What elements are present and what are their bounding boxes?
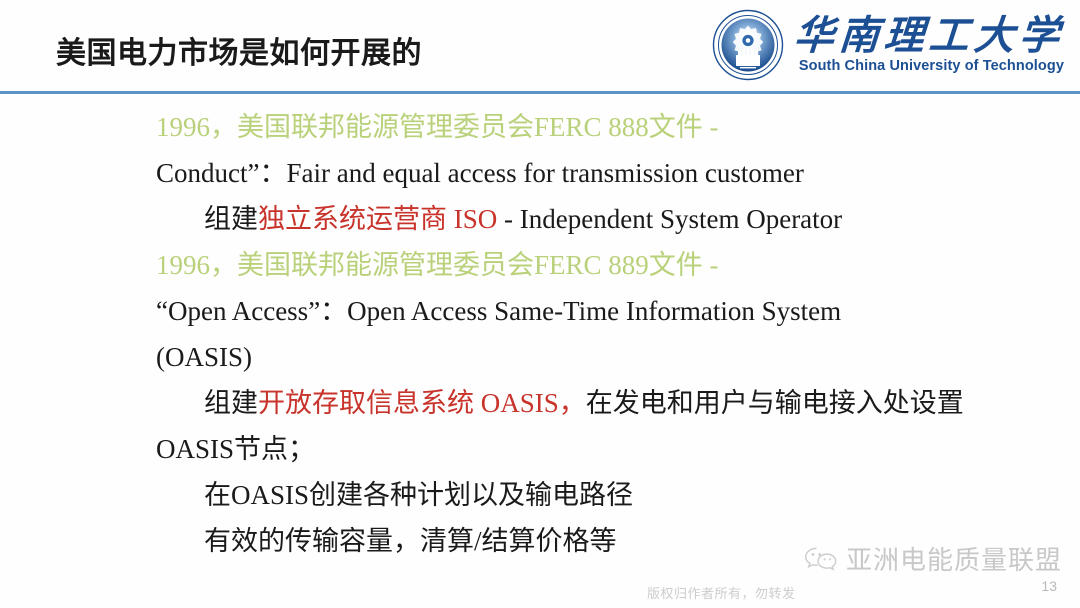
slide-root: 美国电力市场是如何开展的 <box>0 0 1080 608</box>
text-run-red: 开放存取信息系统 OASIS， <box>258 388 586 418</box>
body-line: 组建开放存取信息系统 OASIS，在发电和用户与输电接入处设置 <box>0 380 1080 426</box>
watermark: 亚洲电能质量联盟 <box>803 540 1062 577</box>
text-run-black: Conduct”：Fair and equal access for trans… <box>156 158 804 188</box>
body-line: (OASIS) <box>0 334 1080 380</box>
text-run-black: 组建 <box>204 388 258 418</box>
university-seal-icon <box>712 9 784 81</box>
text-run-black: - Independent System Operator <box>497 204 842 234</box>
text-run-black: OASIS节点； <box>156 434 315 464</box>
header-divider <box>0 91 1080 94</box>
text-run-black: 在发电和用户与输电接入处设置 <box>586 388 964 418</box>
body-line: 组建独立系统运营商 ISO - Independent System Opera… <box>0 196 1080 242</box>
slide-header: 美国电力市场是如何开展的 <box>0 0 1080 92</box>
text-run-black: 组建 <box>204 204 258 234</box>
text-run-green: 1996，美国联邦能源管理委员会FERC 889文件 - <box>156 250 719 280</box>
page-title: 美国电力市场是如何开展的 <box>56 28 422 72</box>
body-line: 1996，美国联邦能源管理委员会FERC 888文件 - <box>0 104 1080 150</box>
text-run-green: 1996，美国联邦能源管理委员会FERC 888文件 - <box>156 112 719 142</box>
text-run-red: 独立系统运营商 ISO <box>258 204 497 234</box>
text-run-black: (OASIS) <box>156 342 252 372</box>
university-logo: 华南理工大学 South China University of Technol… <box>712 6 1064 84</box>
watermark-label: 亚洲电能质量联盟 <box>846 540 1062 577</box>
university-name-cn: 华南理工大学 <box>793 16 1066 57</box>
body-line: 1996，美国联邦能源管理委员会FERC 889文件 - <box>0 242 1080 288</box>
university-name-en: South China University of Technology <box>799 58 1064 74</box>
slide-body: 1996，美国联邦能源管理委员会FERC 888文件 -Conduct”：Fai… <box>0 104 1080 564</box>
copyright-notice: 版权归作者所有，勿转发 <box>647 583 796 602</box>
body-line: OASIS节点； <box>0 426 1080 472</box>
body-line: 在OASIS创建各种计划以及输电路径 <box>0 472 1080 518</box>
university-wordmark: 华南理工大学 South China University of Technol… <box>794 9 1064 81</box>
page-number: 13 <box>1041 578 1057 594</box>
body-line: “Open Access”：Open Access Same-Time Info… <box>0 288 1080 334</box>
wechat-icon <box>803 545 839 573</box>
body-line: Conduct”：Fair and equal access for trans… <box>0 150 1080 196</box>
text-run-black: “Open Access”：Open Access Same-Time Info… <box>156 296 841 326</box>
text-run-black: 在OASIS创建各种计划以及输电路径 <box>204 480 633 510</box>
text-run-black: 有效的传输容量，清算/结算价格等 <box>204 526 617 556</box>
